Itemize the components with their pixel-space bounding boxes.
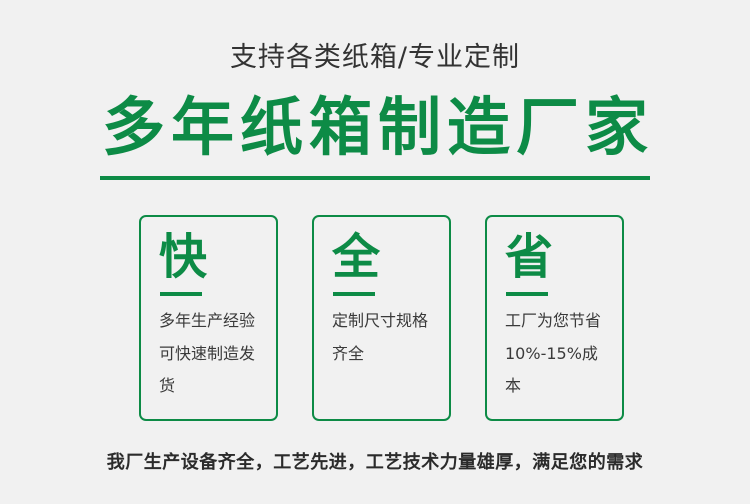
footer-tagline: 我厂生产设备齐全，工艺先进，工艺技术力量雄厚，满足您的需求 xyxy=(0,449,750,476)
feature-card-character: 省 xyxy=(505,231,606,285)
banner-subtitle: 支持各类纸箱/专业定制 xyxy=(0,0,750,74)
feature-card: 省 工厂为您节省10%-15%成本 xyxy=(485,215,624,421)
feature-card-divider xyxy=(333,292,375,296)
feature-card-character: 快 xyxy=(159,231,260,285)
feature-card-divider xyxy=(160,292,202,296)
feature-card-description: 多年生产经验可快速制造发货 xyxy=(159,305,260,403)
feature-card-description: 定制尺寸规格齐全 xyxy=(332,305,433,371)
feature-card: 全 定制尺寸规格齐全 xyxy=(312,215,451,421)
headline-divider-rule xyxy=(100,176,650,180)
feature-card: 快 多年生产经验可快速制造发货 xyxy=(139,215,278,421)
feature-card-divider xyxy=(506,292,548,296)
banner-headline: 多年纸箱制造厂家 xyxy=(0,74,750,164)
banner-header: 支持各类纸箱/专业定制 多年纸箱制造厂家 xyxy=(0,0,750,165)
feature-card-character: 全 xyxy=(332,231,433,285)
banner-footer: 我厂生产设备齐全，工艺先进，工艺技术力量雄厚，满足您的需求 xyxy=(0,449,750,476)
promo-banner: 支持各类纸箱/专业定制 多年纸箱制造厂家 快 多年生产经验可快速制造发货 全 定… xyxy=(0,0,750,504)
feature-card-list: 快 多年生产经验可快速制造发货 全 定制尺寸规格齐全 省 工厂为您节省10%-1… xyxy=(139,215,624,421)
feature-card-description: 工厂为您节省10%-15%成本 xyxy=(505,305,606,403)
